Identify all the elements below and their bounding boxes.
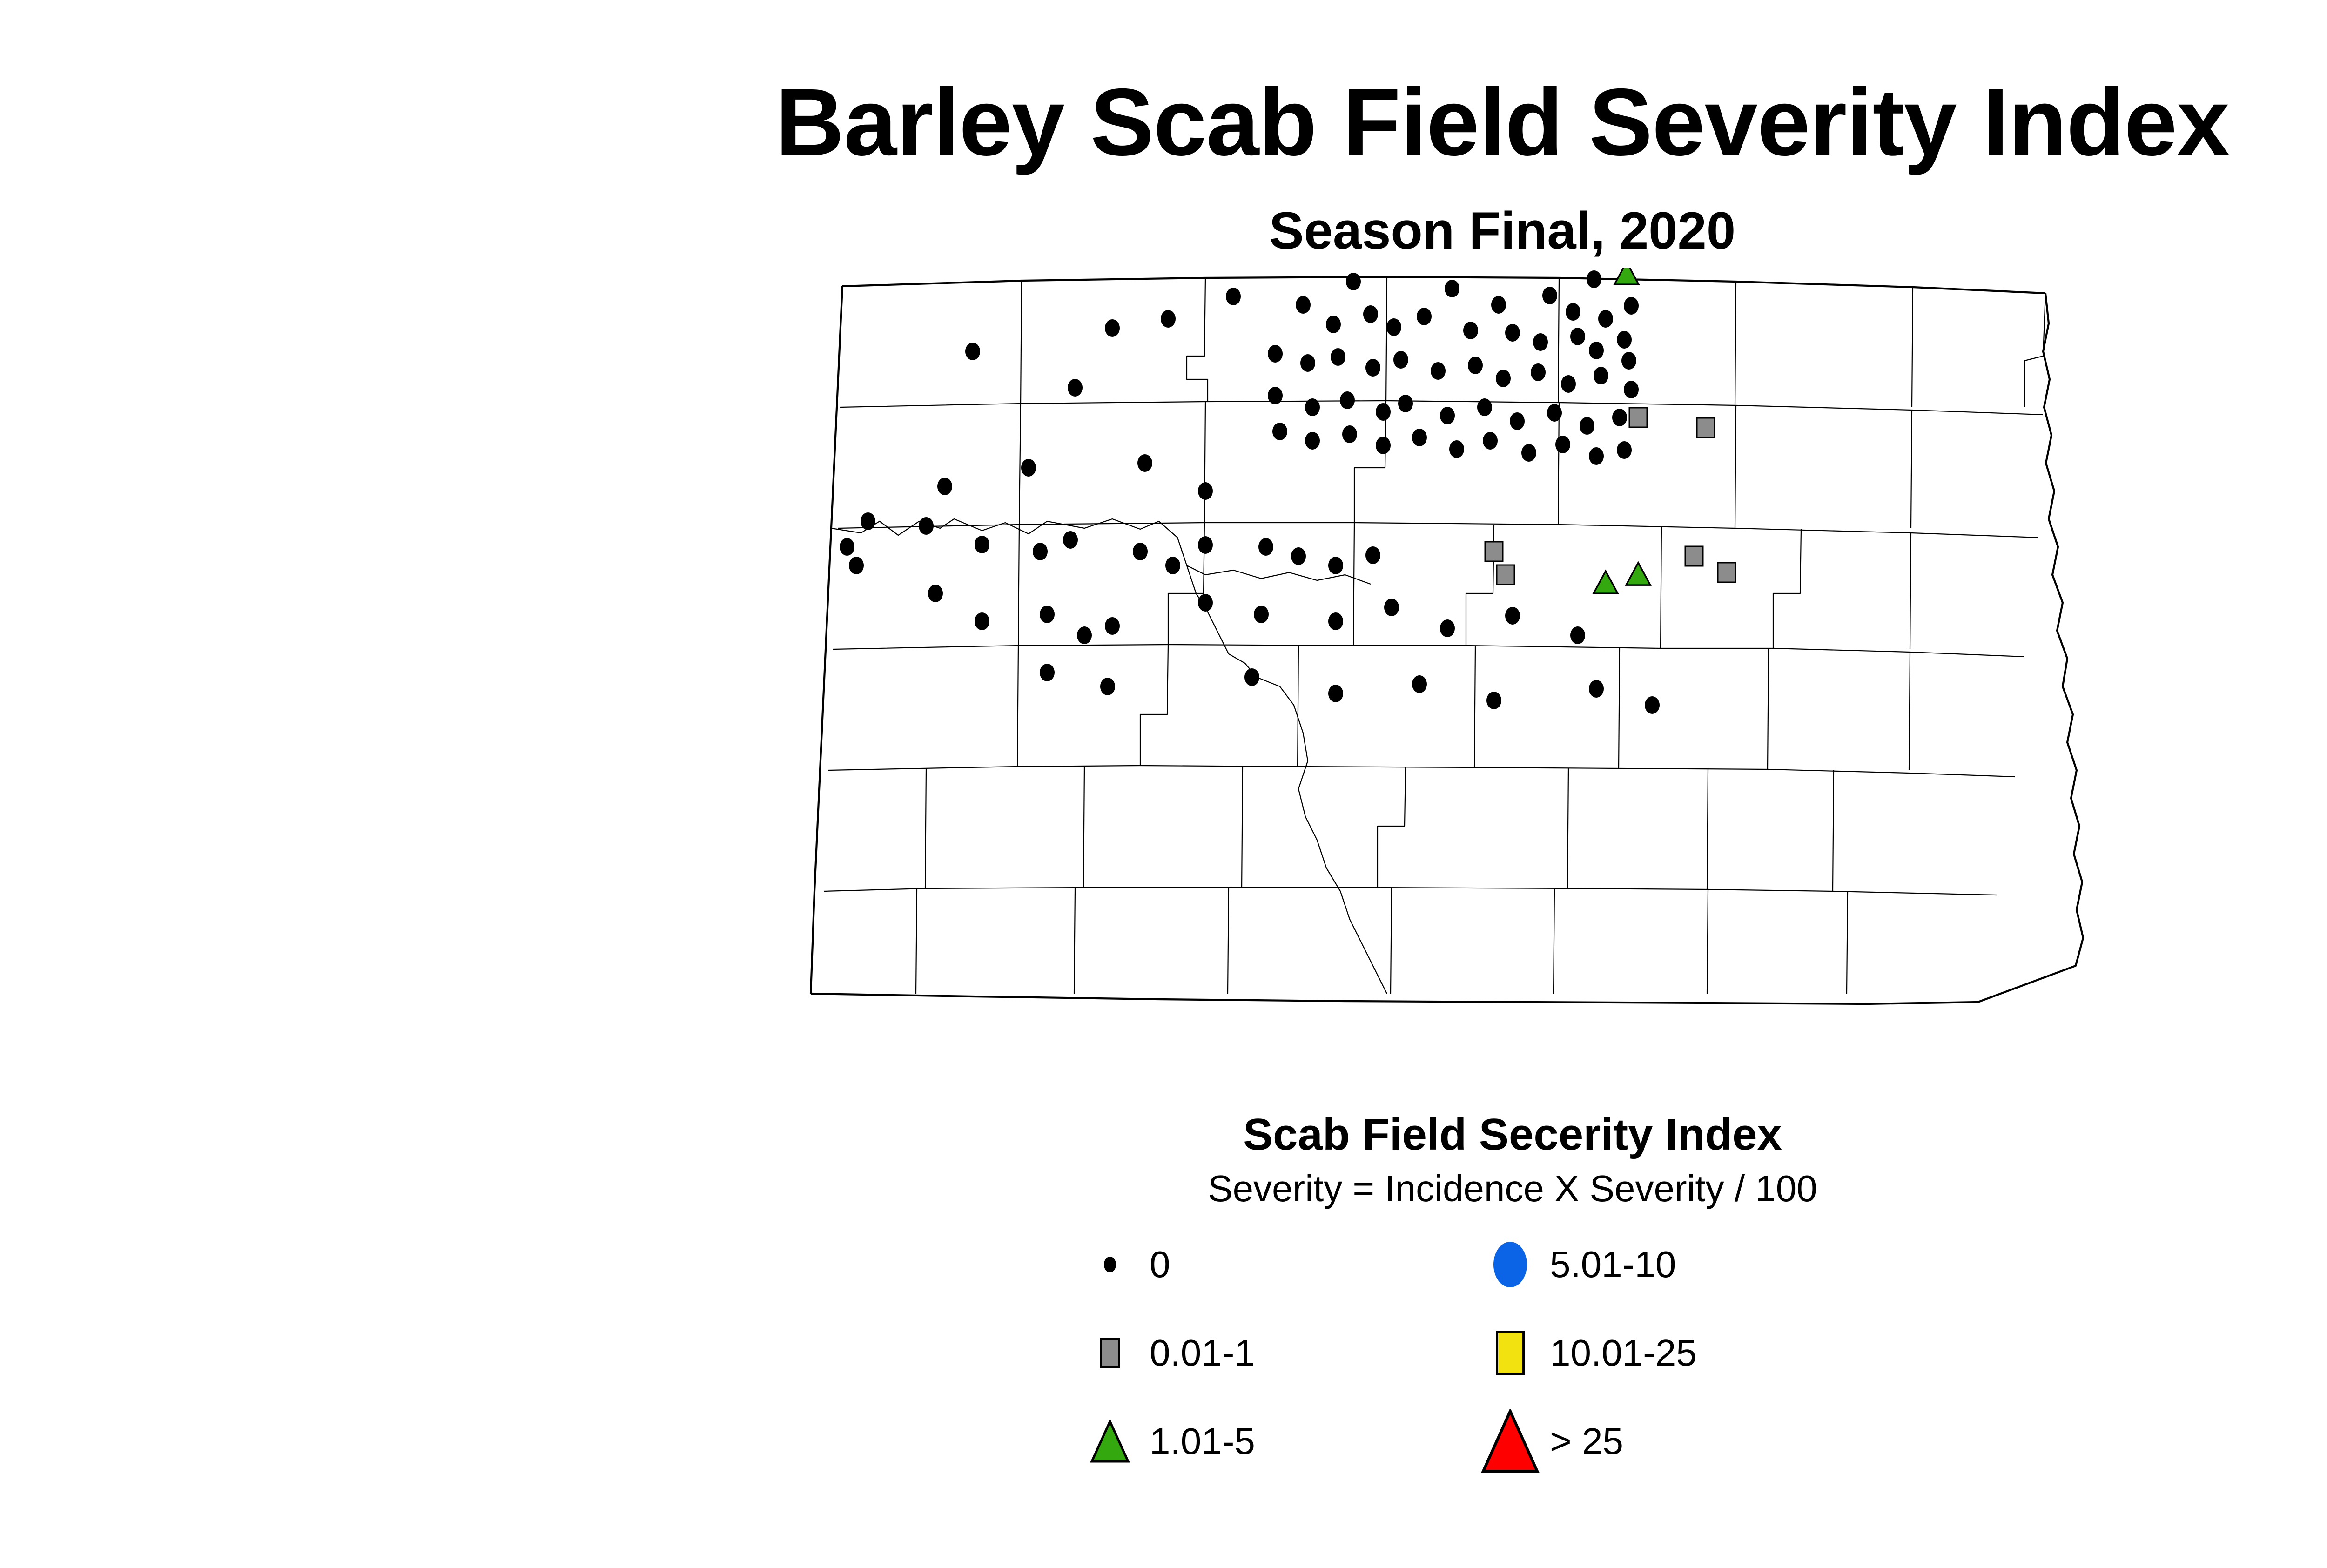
map-marker	[1614, 268, 1639, 284]
legend-item-10_01-25[interactable]: 10.01-25	[1471, 1309, 1955, 1397]
map-marker	[975, 536, 989, 553]
map-marker	[1365, 359, 1380, 377]
map-marker	[1570, 626, 1585, 644]
map-marker	[1198, 482, 1213, 500]
map-marker	[861, 512, 875, 530]
map-marker	[1431, 362, 1446, 380]
legend-item-gt-25[interactable]: > 25	[1471, 1397, 1955, 1486]
map-marker	[1580, 417, 1594, 435]
map-marker	[1342, 425, 1357, 443]
map-marker	[1417, 308, 1432, 325]
map-marker	[1398, 395, 1413, 412]
map-marker	[1165, 557, 1180, 574]
yellow-square-icon	[1471, 1331, 1550, 1375]
map-marker	[1305, 432, 1320, 450]
map-marker	[1100, 678, 1115, 695]
map-marker	[1272, 423, 1287, 440]
map-marker	[1328, 612, 1343, 630]
map-marker	[1376, 403, 1391, 421]
legend-label: > 25	[1550, 1423, 1623, 1460]
legend-item-5_01-10[interactable]: 5.01-10	[1471, 1220, 1955, 1309]
map-marker	[1376, 437, 1391, 454]
map-marker	[975, 612, 989, 630]
map-marker	[1510, 412, 1525, 430]
map-marker	[1697, 418, 1715, 437]
green-triangle-icon	[1070, 1420, 1150, 1463]
map-marker	[1363, 305, 1378, 323]
map-marker	[1300, 354, 1315, 372]
map-marker	[1077, 626, 1092, 644]
map-marker	[1483, 432, 1498, 450]
map-marker	[1521, 444, 1536, 462]
map-marker	[1346, 273, 1361, 290]
map-marker	[1555, 436, 1570, 453]
map-marker	[1258, 538, 1273, 556]
map-marker	[1291, 547, 1306, 565]
map-marker	[1566, 303, 1580, 321]
map-marker	[1617, 331, 1632, 349]
map-marker	[1624, 381, 1639, 398]
map-marker	[1486, 692, 1501, 709]
blue-ellipse-icon	[1471, 1242, 1550, 1287]
map-marker	[1589, 342, 1604, 359]
map-marker	[1412, 675, 1427, 693]
map-marker	[1505, 607, 1520, 625]
map-marker	[1268, 387, 1283, 404]
map-marker	[1331, 348, 1345, 366]
map-marker	[1254, 606, 1269, 623]
map-marker	[840, 538, 854, 556]
map-marker	[1594, 367, 1608, 384]
map-marker	[1326, 316, 1341, 333]
map-marker	[1161, 310, 1176, 328]
map-marker	[1463, 322, 1478, 339]
map-marker	[1570, 328, 1585, 345]
map-marker	[1296, 296, 1311, 314]
map-marker	[1328, 685, 1343, 702]
map-marker	[1040, 664, 1055, 681]
map-marker	[1244, 668, 1259, 686]
map-marker	[1468, 357, 1483, 374]
map-marker	[1063, 531, 1078, 549]
map-legend: Scab Field Secerity Index Severity = Inc…	[1070, 1112, 1955, 1447]
map-marker	[1386, 318, 1401, 336]
map-marker	[965, 343, 980, 360]
map-marker	[1105, 617, 1120, 635]
map-marker	[1629, 408, 1647, 427]
map-marker	[1497, 565, 1514, 585]
map-marker	[1105, 319, 1120, 337]
county-boundaries	[811, 277, 2083, 1004]
map-marker	[1624, 297, 1639, 315]
map-marker	[937, 478, 952, 495]
legend-title: Scab Field Secerity Index	[1070, 1112, 1955, 1157]
map-marker	[1040, 606, 1055, 623]
map-marker	[1589, 447, 1604, 465]
map-marker	[1384, 599, 1399, 616]
map-marker	[928, 585, 943, 602]
map-marker	[1365, 546, 1380, 564]
map-marker	[1133, 543, 1148, 560]
legend-item-1_01-5[interactable]: 1.01-5	[1070, 1397, 1471, 1486]
map-marker	[1612, 409, 1627, 426]
map-marker	[1340, 391, 1355, 409]
map-marker	[1645, 696, 1660, 714]
map-marker	[1226, 288, 1241, 305]
map-marker	[849, 557, 864, 574]
map-marker	[1491, 296, 1506, 314]
legend-item-0[interactable]: 0	[1070, 1220, 1471, 1309]
map-marker	[1305, 398, 1320, 416]
map-marker	[1617, 441, 1632, 459]
map-marker	[1626, 563, 1650, 585]
map-marker	[1542, 287, 1557, 304]
map-marker	[1505, 324, 1520, 342]
legend-label: 1.01-5	[1150, 1423, 1255, 1460]
map-marker	[1587, 270, 1601, 288]
gray-square-icon	[1070, 1338, 1150, 1368]
map-marker	[1445, 280, 1459, 297]
map-marker	[1198, 594, 1213, 612]
map-marker	[1033, 543, 1048, 560]
legend-subtitle: Severity = Incidence X Severity / 100	[1070, 1170, 1955, 1207]
north-dakota-map[interactable]	[787, 268, 2090, 1068]
map-marker	[1496, 370, 1511, 387]
legend-label: 0	[1150, 1246, 1170, 1283]
map-marker	[1068, 379, 1083, 397]
map-marker	[1561, 375, 1576, 393]
map-svg	[787, 268, 2090, 1068]
map-marker	[1594, 571, 1618, 593]
map-marker	[1137, 454, 1152, 472]
map-marker	[1440, 407, 1455, 424]
map-marker	[1547, 404, 1562, 422]
legend-items: 0 5.01-10 0.01-1 10.01-25 1.01-5	[1070, 1220, 1955, 1486]
map-marker	[1685, 546, 1703, 566]
black-circle-icon	[1070, 1257, 1150, 1272]
map-marker	[1477, 398, 1492, 416]
map-marker	[919, 517, 934, 535]
map-marker	[1412, 429, 1427, 446]
map-marker	[1198, 536, 1213, 554]
map-marker	[1268, 345, 1283, 363]
legend-label: 10.01-25	[1550, 1334, 1697, 1372]
map-marker	[1598, 310, 1613, 328]
map-marker	[1621, 352, 1636, 370]
page-title: Barley Scab Field Severity Index	[0, 74, 2327, 170]
legend-label: 0.01-1	[1150, 1334, 1255, 1372]
map-marker	[1589, 680, 1604, 698]
map-marker	[1449, 440, 1464, 458]
legend-label: 5.01-10	[1550, 1246, 1676, 1283]
map-marker	[1533, 333, 1548, 351]
page-root: Barley Scab Field Severity Index Season …	[0, 0, 2327, 1568]
map-marker	[1021, 459, 1036, 477]
map-marker	[1718, 563, 1735, 582]
map-marker	[1440, 619, 1455, 637]
legend-item-0_01-1[interactable]: 0.01-1	[1070, 1309, 1471, 1397]
red-triangle-icon	[1471, 1409, 1550, 1474]
map-marker	[1328, 557, 1343, 574]
map-marker	[1393, 351, 1408, 369]
page-subtitle: Season Final, 2020	[0, 205, 2327, 257]
map-marker	[1485, 542, 1503, 561]
map-marker	[1531, 363, 1546, 381]
